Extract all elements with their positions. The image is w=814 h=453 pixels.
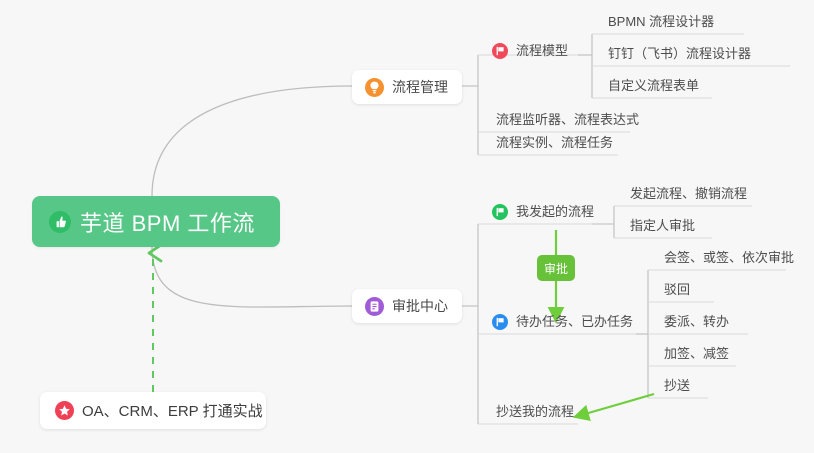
branch-node-shenpi-zhongxin[interactable]: 审批中心 [352,289,462,323]
branch-node-liucheng-guanli[interactable]: 流程管理 [352,70,462,104]
star-icon [55,401,74,420]
node-reject[interactable]: 驳回 [660,279,694,304]
node-liucheng-moxing[interactable]: 流程模型 [492,40,572,65]
root-node[interactable]: 芋道 BPM 工作流 [32,196,280,247]
node-label: 我发起的流程 [516,201,594,223]
node-my-started-process[interactable]: 我发起的流程 [492,201,598,226]
node-instance-task[interactable]: 流程实例、流程任务 [492,132,617,157]
flag-icon [492,43,508,59]
branch-label: 审批中心 [392,296,448,316]
approval-annotation-badge[interactable]: 审批 [537,255,575,281]
node-label: 待办任务、已办任务 [516,311,633,333]
flag-icon [492,314,508,330]
node-oa-crm-erp[interactable]: OA、CRM、ERP 打通实战 [40,392,266,429]
node-assignee-approval[interactable]: 指定人审批 [626,215,699,240]
node-dingtalk-feishu-designer[interactable]: 钉钉（飞书）流程设计器 [604,43,755,68]
node-countersign-or-sequential[interactable]: 会签、或签、依次审批 [660,247,798,272]
node-label: 流程模型 [516,40,568,62]
branch-label: 流程管理 [392,77,448,97]
node-custom-form[interactable]: 自定义流程表单 [604,75,703,100]
root-label: 芋道 BPM 工作流 [80,206,255,238]
thumbs-up-icon [49,211,71,233]
node-start-cancel-process[interactable]: 发起流程、撤销流程 [626,183,751,208]
lightbulb-icon [365,78,384,97]
node-bpmn-designer[interactable]: BPMN 流程设计器 [604,11,718,36]
node-delegate-transfer[interactable]: 委派、转办 [660,311,733,336]
node-cc-to-me-process[interactable]: 抄送我的流程 [492,401,578,426]
node-cc[interactable]: 抄送 [660,375,694,400]
node-label: OA、CRM、ERP 打通实战 [82,400,263,421]
approval-annotation-label: 审批 [544,260,568,277]
clipboard-icon [365,297,384,316]
flag-icon [492,204,508,220]
node-listener-expression[interactable]: 流程监听器、流程表达式 [492,109,643,134]
node-todo-done-task[interactable]: 待办任务、已办任务 [492,311,637,336]
node-add-remove-sign[interactable]: 加签、减签 [660,343,733,368]
mindmap-canvas: 芋道 BPM 工作流 流程管理 审批中心 [0,0,814,453]
